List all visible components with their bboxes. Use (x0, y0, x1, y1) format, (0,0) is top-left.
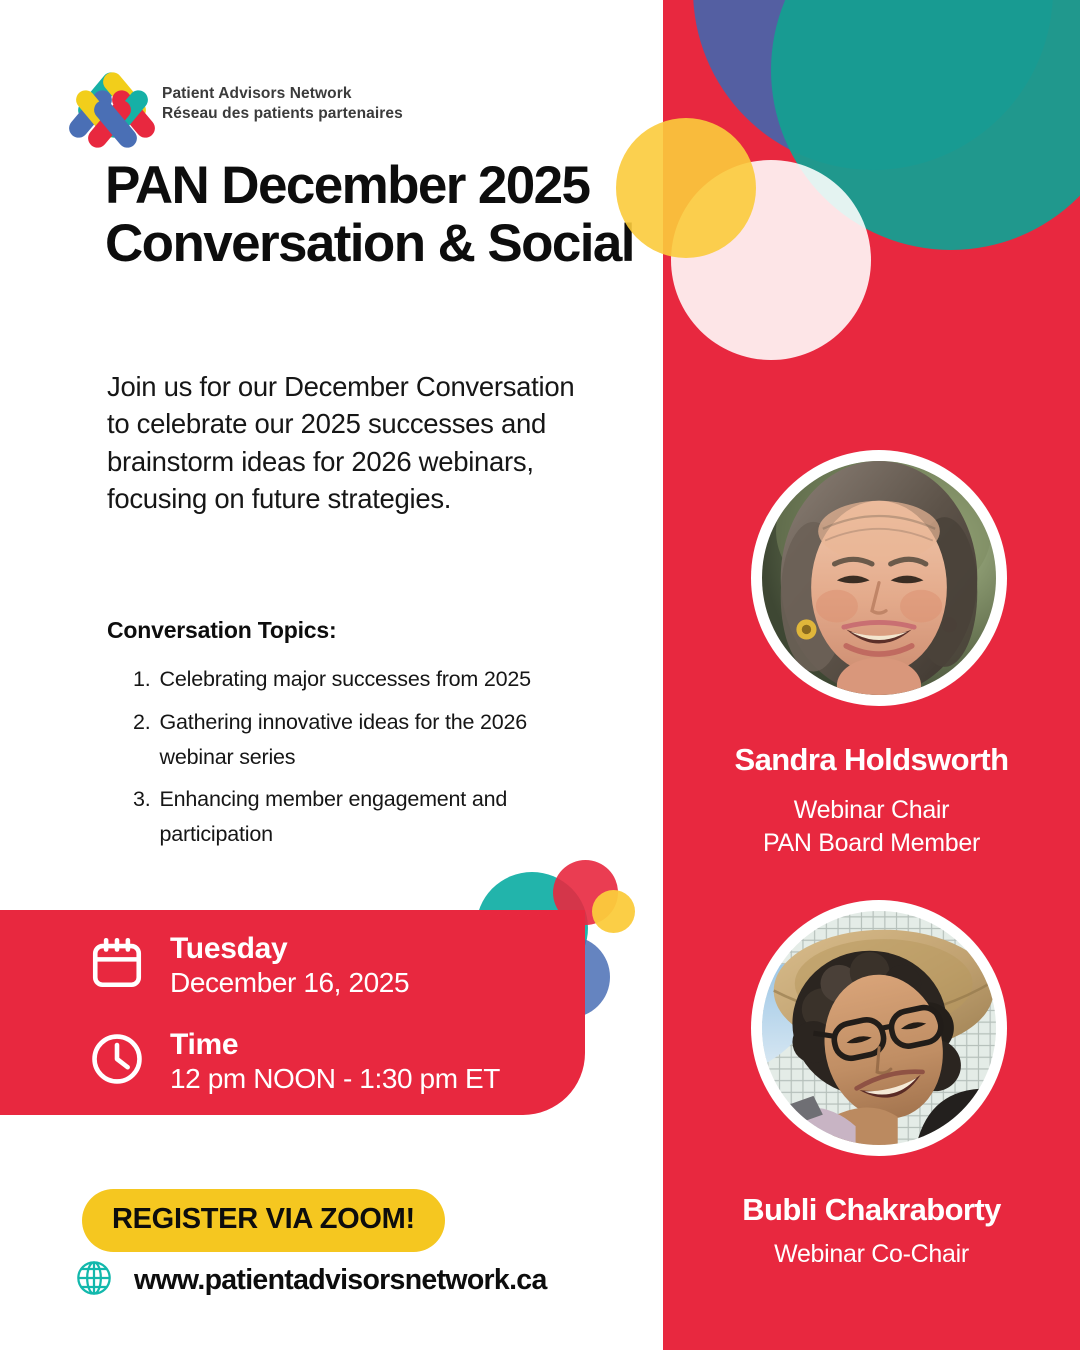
list-item: 1. Celebrating major successes from 2025 (133, 662, 603, 697)
portrait-sandra-holdsworth (762, 461, 996, 695)
list-item-number: 2. (133, 705, 151, 775)
list-item-number: 3. (133, 782, 151, 852)
speaker-role-line1: Webinar Co-Chair (663, 1238, 1080, 1271)
avatar (751, 900, 1007, 1156)
register-via-zoom-button[interactable]: REGISTER VIA ZOOM! (82, 1189, 445, 1252)
event-details-banner: Tuesday December 16, 2025 Time 12 pm NOO… (0, 910, 585, 1115)
intro-paragraph: Join us for our December Conversation to… (107, 368, 577, 518)
speaker-name: Sandra Holdsworth (663, 742, 1080, 778)
page-title: PAN December 2025 Conversation & Social (105, 157, 665, 273)
globe-icon (74, 1258, 114, 1303)
website-row[interactable]: www.patientadvisorsnetwork.ca (74, 1258, 547, 1303)
pan-pinwheel-logo-icon (78, 66, 146, 142)
decor-circle-yellow-mid (592, 890, 635, 933)
list-item-text: Enhancing member engagement and particip… (160, 782, 603, 852)
list-item: 3. Enhancing member engagement and parti… (133, 782, 603, 852)
website-url[interactable]: www.patientadvisorsnetwork.ca (134, 1264, 547, 1297)
speaker-role-line2: PAN Board Member (663, 827, 1080, 860)
speaker-name: Bubli Chakraborty (663, 1192, 1080, 1228)
portrait-bubli-chakraborty (762, 911, 996, 1145)
event-date-value: December 16, 2025 (170, 966, 409, 1000)
avatar (751, 450, 1007, 706)
list-item: 2. Gathering innovative ideas for the 20… (133, 705, 603, 775)
event-time-label: Time (170, 1028, 500, 1062)
calendar-icon (88, 934, 146, 997)
event-date-label: Tuesday (170, 932, 409, 966)
event-date-row: Tuesday December 16, 2025 (88, 932, 409, 999)
list-item-number: 1. (133, 662, 151, 697)
clock-icon (88, 1030, 146, 1093)
event-time-value: 12 pm NOON - 1:30 pm ET (170, 1062, 500, 1096)
topics-heading: Conversation Topics: (107, 617, 336, 644)
decor-circle-yellow (616, 118, 756, 258)
event-time-row: Time 12 pm NOON - 1:30 pm ET (88, 1028, 500, 1095)
logo-text-en: Patient Advisors Network (162, 84, 403, 104)
speaker-role: Webinar Co-Chair (663, 1238, 1080, 1271)
speaker-role: Webinar Chair PAN Board Member (663, 794, 1080, 861)
speaker-role-line1: Webinar Chair (663, 794, 1080, 827)
list-item-text: Celebrating major successes from 2025 (160, 662, 531, 697)
logo-text-fr: Réseau des patients partenaires (162, 104, 403, 124)
list-item-text: Gathering innovative ideas for the 2026 … (160, 705, 603, 775)
brand-logo: Patient Advisors Network Réseau des pati… (78, 66, 403, 142)
topics-list: 1. Celebrating major successes from 2025… (133, 662, 603, 860)
